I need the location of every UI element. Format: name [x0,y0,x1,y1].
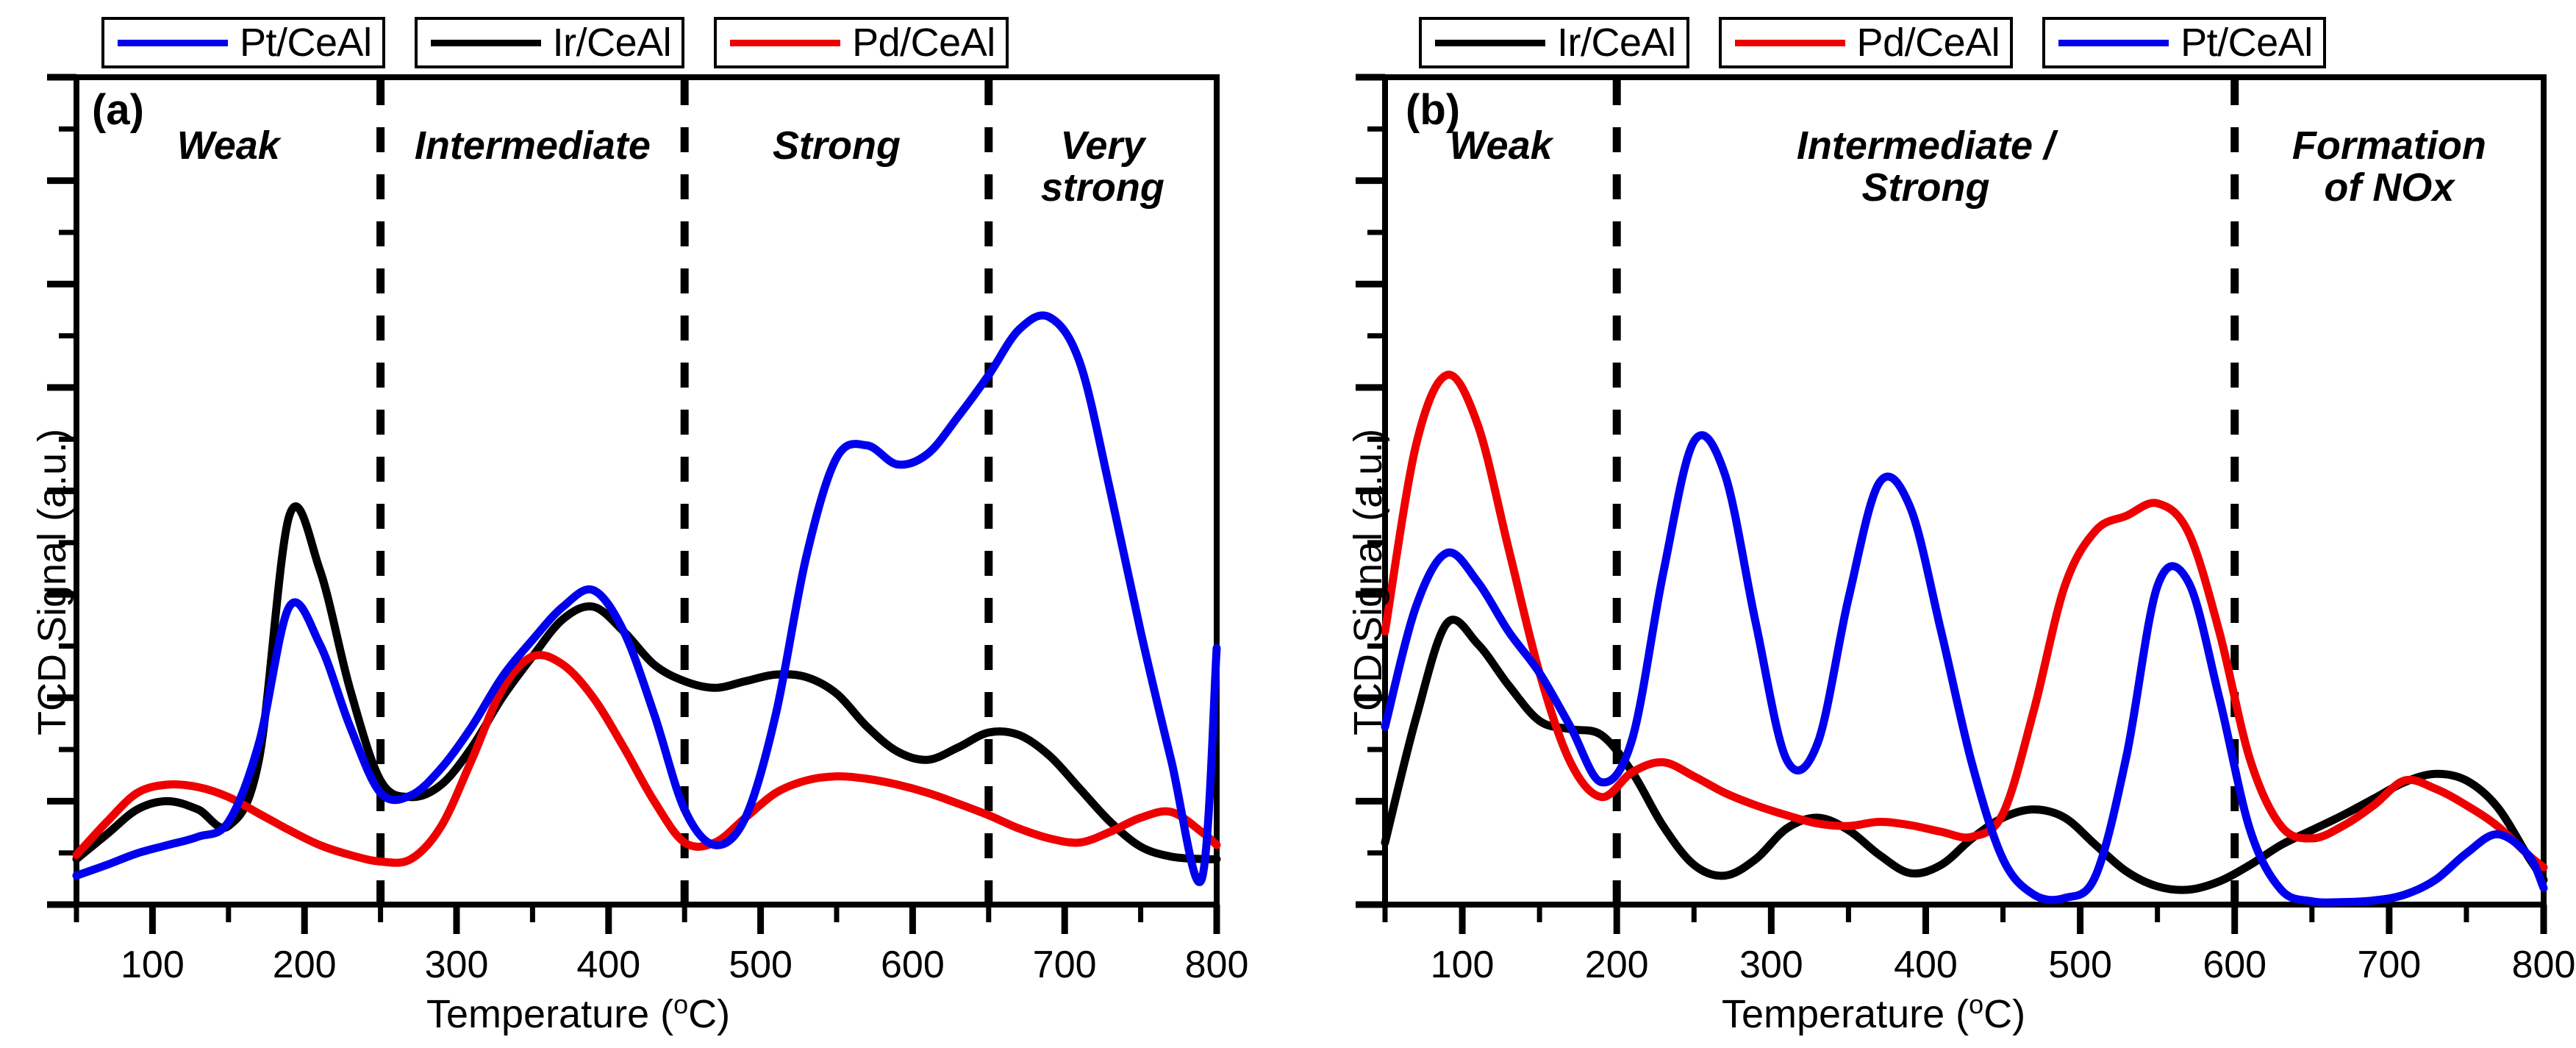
x-tick-label: 500 [2022,943,2139,987]
x-tick-label: 700 [2330,943,2448,987]
x-axis-ticks [76,905,1217,934]
degree-symbol: o [673,989,688,1019]
x-tick-label: 600 [854,943,971,987]
degree-symbol: o [1969,989,1983,1019]
region-label-weak: Weak [1347,125,1656,167]
region-label-intermediate: Intermediate [378,125,687,167]
x-tick-label: 200 [1558,943,1675,987]
y-axis-title-panel-a: TCD Signal (a.u.) [29,429,75,735]
curve-ir-ceal [1385,620,2544,891]
x-tick-label: 800 [1158,943,1276,987]
x-axis-ticks [1385,905,2544,934]
x-tick-label: 300 [1712,943,1830,987]
region-label-strong: Strong [682,125,991,167]
x-tick-label: 100 [93,943,211,987]
panel-b: Ir/CeAlPd/CeAlPt/CeAl (b) TCD Signal (a.… [1288,0,2576,1048]
region-label-very: Very strong [948,125,1257,209]
x-tick-label: 100 [1403,943,1521,987]
x-tick-label: 500 [702,943,820,987]
x-tick-label: 700 [1006,943,1123,987]
x-tick-label: 300 [398,943,515,987]
curve-pt-ceal [1385,435,2544,902]
region-label-intermediatestrong: Intermediate / Strong [1771,125,2080,209]
x-axis-title-panel-a: Temperature (oC) [426,989,730,1037]
x-tick-label: 800 [2485,943,2576,987]
x-tick-label: 600 [2176,943,2294,987]
panel-a: Pt/CeAlIr/CeAlPd/CeAl (a) TCD Signal (a.… [0,0,1288,1048]
x-tick-label: 400 [550,943,668,987]
x-axis-title-panel-b: Temperature (oC) [1722,989,2025,1037]
region-label-weak: Weak [74,125,383,167]
y-axis-title-panel-b: TCD Signal (a.u.) [1345,429,1391,735]
x-tick-label: 400 [1867,943,1984,987]
figure-container: Pt/CeAlIr/CeAlPd/CeAl (a) TCD Signal (a.… [0,0,2576,1048]
region-label-formation: Formation of NOx [2235,125,2544,209]
x-tick-label: 200 [246,943,363,987]
curve-pd-ceal [1385,375,2544,868]
